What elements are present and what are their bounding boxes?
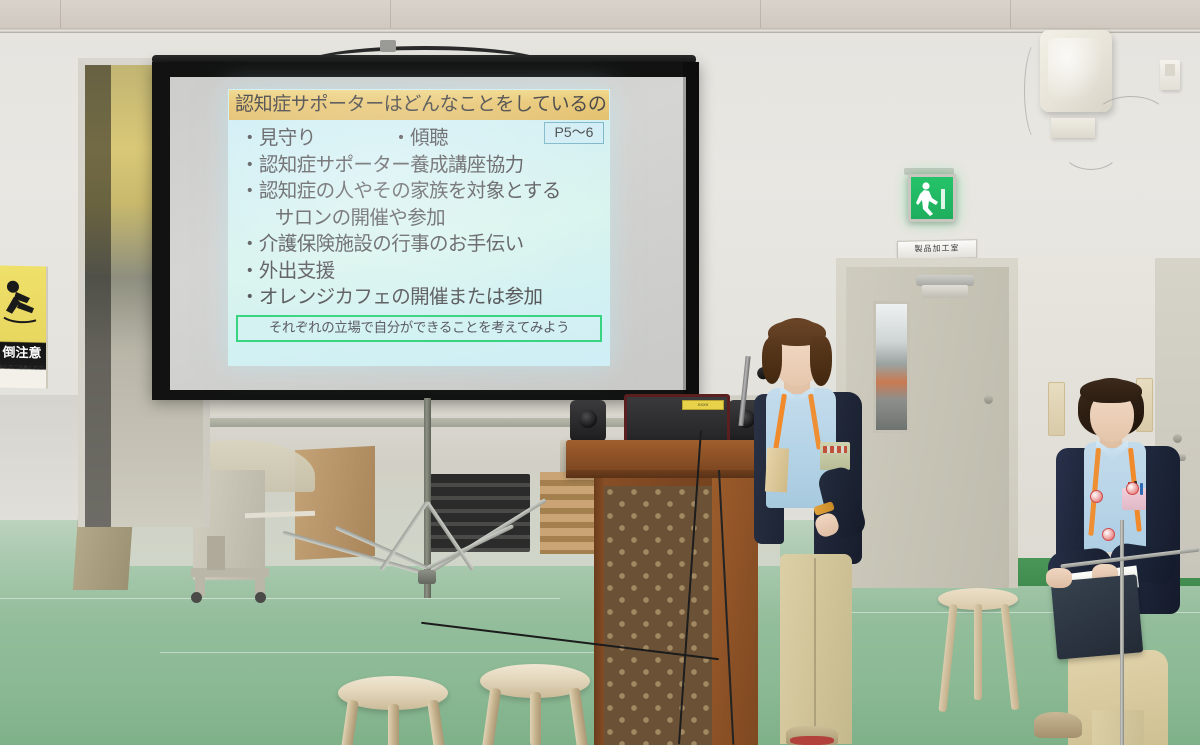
presenter-shoe-sole (790, 736, 834, 745)
left-speaker (570, 400, 606, 442)
slide-bullet: ・見守り ・傾聴 (240, 125, 604, 152)
caution-subtext: ゆとでご注意ください。 (0, 364, 46, 372)
presenter-name-badge (820, 442, 850, 470)
podium-front-panel (604, 486, 712, 745)
slide-bullet: ・介護保険施設の行事のお手伝い (240, 231, 604, 258)
door-knob[interactable] (984, 395, 993, 404)
wall-outlet (1160, 60, 1180, 90)
slide-footer-note: それぞれの立場で自分ができることを考えてみよう (236, 315, 602, 342)
slide-bullet-continuation: サロンの開催や参加 (240, 205, 604, 232)
slide-title: 認知症サポーターはどんなことをしているの (229, 90, 609, 120)
emergency-exit-sign (908, 174, 956, 222)
tripod-hub (418, 570, 436, 584)
slip-caution-sign: 倒注意 ゆとでご注意ください。 (0, 265, 48, 388)
slide-bullet: ・認知症の人やその家族を対象とする (240, 178, 604, 205)
projected-slide: 認知症サポーターはどんなことをしているの P5〜6 ・見守り ・傾聴 ・認知症サ… (228, 89, 610, 366)
room-name-plate: 製品加工室 (897, 239, 977, 260)
door-closer-body (922, 285, 968, 298)
slide-bullet: ・認知症サポーター養成講座協力 (240, 152, 604, 179)
running-person-icon (911, 177, 953, 219)
slide-bullet-list: ・見守り ・傾聴 ・認知症サポーター養成講座協力 ・認知症の人やその家族を対象と… (240, 125, 604, 311)
laptop-sticker-text: XXXX (683, 401, 723, 408)
slipping-person-icon (0, 275, 40, 336)
upper-wall-band (0, 0, 1200, 30)
presentation-room-photo: 倒注意 ゆとでご注意ください。 認知症サポーターはどんなことをしているの P5〜… (0, 0, 1200, 745)
slide-bullet: ・オレンジカフェの開催または参加 (240, 284, 604, 311)
laptop-sticker: XXXX (682, 400, 724, 410)
caution-heading: 倒注意 (0, 343, 46, 362)
right-stand-post (1120, 520, 1124, 745)
podium-lip (566, 470, 782, 478)
slide-bullet: ・外出支援 (240, 258, 604, 285)
screen-hook (380, 40, 396, 52)
presenter-notes (765, 447, 789, 492)
presenter (752, 318, 882, 745)
wall-rail (0, 28, 1200, 33)
room-name-plate-text: 製品加工室 (898, 240, 976, 258)
seated-staff-shoe (1034, 712, 1082, 738)
